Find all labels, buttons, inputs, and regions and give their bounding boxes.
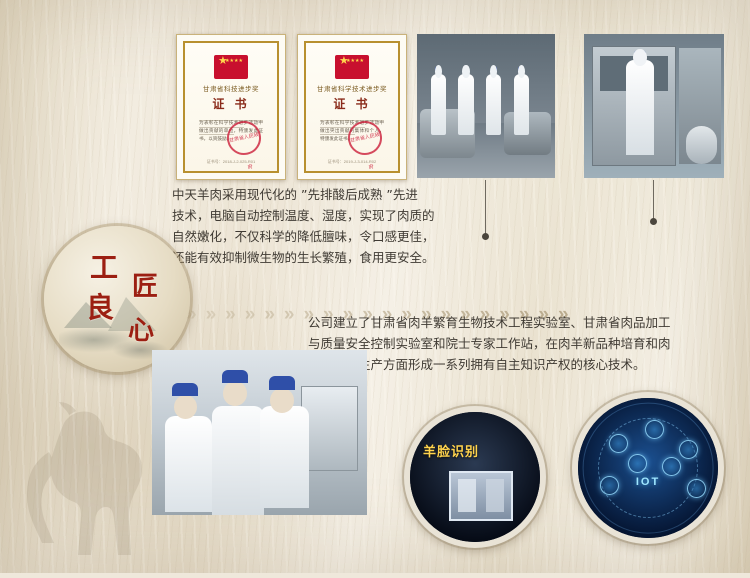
photo-team-equipment — [301, 386, 359, 471]
photo-team-head — [270, 388, 294, 413]
connector-line-right — [653, 180, 654, 220]
photo-team-person — [165, 416, 212, 512]
seal-char-3: 良 — [86, 286, 114, 326]
certificate-title-1: 证 书 — [185, 95, 277, 112]
connector-dot-left — [482, 233, 489, 240]
arrow-glyph: » — [284, 305, 293, 324]
certificate-footer-1: 证书号：2018-J-2-025-R01 — [185, 159, 277, 165]
photo-lab-drum — [686, 126, 717, 163]
horse-watermark-icon — [6, 383, 166, 573]
certificate-footer-2: 证书号：2019-J-3-014-R02 — [306, 159, 398, 165]
paragraph-research: 公司建立了甘肃省肉羊繁育生物技术工程实验室、甘肃省肉品加工 与质量安全控制实验室… — [308, 312, 738, 375]
circle-iot: IOT — [572, 392, 724, 544]
iot-node-icon — [679, 440, 698, 459]
photo-team-head — [223, 381, 247, 406]
seal-char-2: 匠 — [132, 266, 158, 303]
photo-team-cap — [172, 383, 198, 396]
photo-workers-person — [514, 74, 529, 134]
connector-line-left — [485, 180, 486, 235]
certificate-card-2: ★★★★ 甘肃省科学技术进步奖 证 书 为表彰在科学技术进步活动中做出突出贡献的… — [297, 34, 407, 180]
paragraph-research-line-3: 制品加工生产方面形成一系列拥有自主知识产权的核心技术。 — [308, 354, 738, 375]
photo-workers-person — [431, 74, 446, 134]
certificate-card-1: ★★★★ 甘肃省科技进步奖 证 书 为表彰在科学技术进步活动中做出贡献的单位，特… — [176, 34, 286, 180]
certificate-header-2: 甘肃省科学技术进步奖 — [306, 83, 398, 93]
photo-workers-person — [486, 74, 501, 134]
circle-face-recognition: 羊脸识别 — [404, 406, 546, 548]
photo-lab-equipment: 实验室设备操作 — [584, 34, 724, 178]
photo-team-cap — [269, 376, 295, 389]
face-recognition-preview — [449, 471, 513, 522]
iot-label: IOT — [636, 476, 660, 488]
certificate-inner-frame-2: ★★★★ 甘肃省科学技术进步奖 证 书 为表彰在科学技术进步活动中做出突出贡献的… — [304, 41, 400, 173]
photo-workers: 车间工人加工作业 — [417, 34, 555, 178]
paragraph-research-line-2: 与质量安全控制实验室和院士专家工作站，在肉羊新品种培育和肉 — [308, 333, 738, 354]
photo-lab-team: 实验室技术团队 — [152, 350, 367, 515]
photo-team-person — [212, 406, 264, 515]
connector-dot-right — [650, 218, 657, 225]
national-emblem-icon: ★★★★ — [214, 55, 248, 79]
iot-node-icon — [662, 457, 681, 476]
paragraph-technology-line-3: 自然嫩化，不仅科学的降低膻味，令口感更佳， — [172, 226, 472, 247]
photo-lab-operator — [626, 60, 654, 155]
arrow-glyph: » — [225, 305, 234, 324]
arrow-glyph: » — [264, 305, 273, 324]
arrow-glyph: » — [206, 305, 215, 324]
arrow-glyph: » — [245, 305, 254, 324]
certificate-inner-frame-1: ★★★★ 甘肃省科技进步奖 证 书 为表彰在科学技术进步活动中做出贡献的单位，特… — [183, 41, 279, 173]
paragraph-technology: 中天羊肉采用现代化的 ”先排酸后成熟 ”先进 技术，电脑自动控制温度、湿度，实现… — [172, 184, 472, 268]
certificate-header-1: 甘肃省科技进步奖 — [185, 83, 277, 93]
photo-team-person — [260, 406, 309, 508]
paragraph-technology-line-4: 还能有效抑制微生物的生长繁殖，食用更安全。 — [172, 247, 472, 268]
face-recognition-label: 羊脸识别 — [423, 441, 479, 460]
seal-char-4: 心 — [128, 310, 154, 347]
paragraph-technology-line-1: 中天羊肉采用现代化的 ”先排酸后成熟 ”先进 — [172, 184, 472, 205]
seal-char-1: 工 — [90, 246, 118, 286]
certificate-title-2: 证 书 — [306, 95, 398, 112]
photo-workers-person — [458, 74, 473, 134]
paragraph-technology-line-2: 技术，电脑自动控制温度、湿度，实现了肉质的 — [172, 205, 472, 226]
photo-team-cap — [222, 370, 248, 383]
paragraph-research-line-1: 公司建立了甘肃省肉羊繁育生物技术工程实验室、甘肃省肉品加工 — [308, 312, 738, 333]
national-emblem-icon: ★★★★ — [335, 55, 369, 79]
